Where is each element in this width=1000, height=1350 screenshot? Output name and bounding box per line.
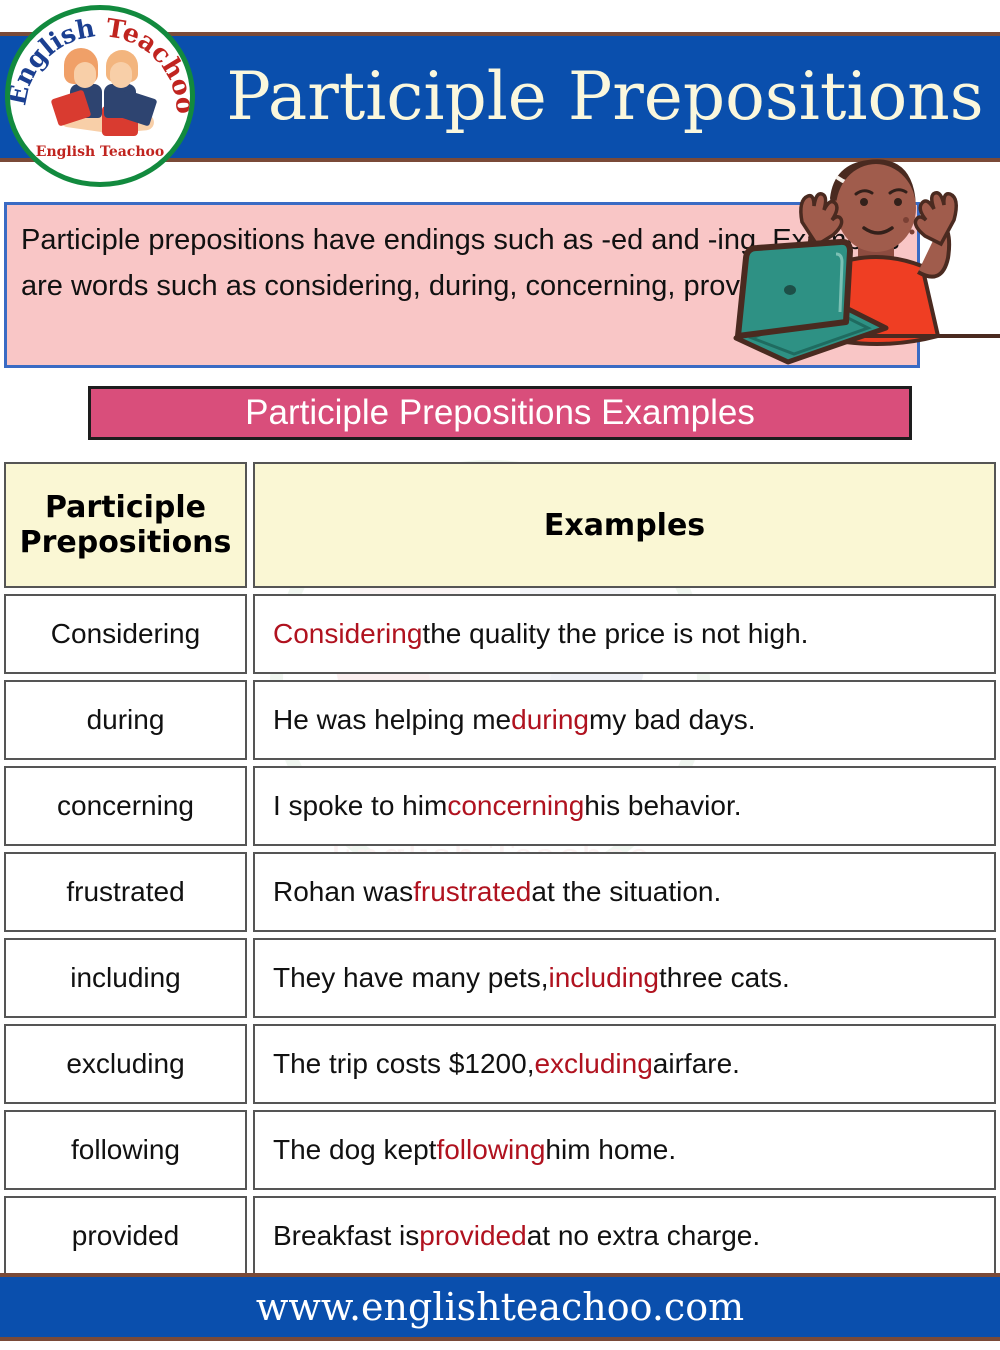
cell-example-sentence: Breakfast is provided at no extra charge… <box>253 1196 996 1276</box>
logo-caption: English Teachoo <box>10 144 190 160</box>
column-header-term: Participle Prepositions <box>4 462 247 588</box>
table-row: duringHe was helping me during my bad da… <box>4 680 996 760</box>
cell-participle-preposition: during <box>4 680 247 760</box>
cell-participle-preposition: Considering <box>4 594 247 674</box>
cell-participle-preposition: following <box>4 1110 247 1190</box>
example-text-after: him home. <box>545 1134 676 1166</box>
section-banner: Participle Prepositions Examples <box>88 386 912 440</box>
footer-url[interactable]: www.englishteachoo.com <box>256 1285 744 1329</box>
cell-example-sentence: The dog kept following him home. <box>253 1110 996 1190</box>
example-text-before: I spoke to him <box>273 790 447 822</box>
example-keyword: excluding <box>534 1048 652 1080</box>
cell-example-sentence: I spoke to him concerning his behavior. <box>253 766 996 846</box>
table-row: includingThey have many pets, including … <box>4 938 996 1018</box>
table-header-row: Participle Prepositions Examples <box>4 462 996 588</box>
cell-example-sentence: He was helping me during my bad days. <box>253 680 996 760</box>
example-keyword: during <box>511 704 589 736</box>
example-keyword: frustrated <box>413 876 531 908</box>
logo-readers-illustration <box>52 48 158 148</box>
site-logo: English Teachoo .Com English Teachoo <box>5 5 195 187</box>
example-text-before: They have many pets, <box>273 962 548 994</box>
table-row: concerningI spoke to him concerning his … <box>4 766 996 846</box>
example-keyword: Considering <box>273 618 422 650</box>
cell-participle-preposition: provided <box>4 1196 247 1276</box>
cell-participle-preposition: frustrated <box>4 852 247 932</box>
cell-participle-preposition: including <box>4 938 247 1018</box>
description-text: Participle prepositions have endings suc… <box>21 217 903 309</box>
table-body: ConsideringConsidering the quality the p… <box>4 594 996 1276</box>
example-text-before: He was helping me <box>273 704 511 736</box>
column-header-examples: Examples <box>253 462 996 588</box>
cell-participle-preposition: concerning <box>4 766 247 846</box>
example-keyword: provided <box>419 1220 526 1252</box>
example-text-before: Breakfast is <box>273 1220 419 1252</box>
example-text-after: three cats. <box>659 962 790 994</box>
description-box: Participle prepositions have endings suc… <box>4 202 920 368</box>
cell-example-sentence: Considering the quality the price is not… <box>253 594 996 674</box>
example-text-after: airfare. <box>653 1048 740 1080</box>
table-row: ConsideringConsidering the quality the p… <box>4 594 996 674</box>
table-row: frustratedRohan was frustrated at the si… <box>4 852 996 932</box>
example-keyword: concerning <box>447 790 584 822</box>
example-text-after: at no extra charge. <box>527 1220 760 1252</box>
example-keyword: including <box>548 962 659 994</box>
example-text-after: my bad days. <box>589 704 756 736</box>
example-keyword: following <box>436 1134 545 1166</box>
infographic-page: English Teachoo Participle Prepositions … <box>0 0 1000 1350</box>
cell-participle-preposition: excluding <box>4 1024 247 1104</box>
cell-example-sentence: The trip costs $1200, excluding airfare. <box>253 1024 996 1104</box>
example-text-before: The dog kept <box>273 1134 436 1166</box>
example-text-before: The trip costs $1200, <box>273 1048 534 1080</box>
cell-example-sentence: Rohan was frustrated at the situation. <box>253 852 996 932</box>
table-row: followingThe dog kept following him home… <box>4 1110 996 1190</box>
table-row: providedBreakfast is provided at no extr… <box>4 1196 996 1276</box>
examples-table: Participle Prepositions Examples Conside… <box>4 462 996 1282</box>
example-text-after: his behavior. <box>584 790 741 822</box>
page-title: Participle Prepositions <box>215 36 995 158</box>
example-text-after: the quality the price is not high. <box>422 618 808 650</box>
footer-banner: www.englishteachoo.com <box>0 1273 1000 1341</box>
table-row: excludingThe trip costs $1200, excluding… <box>4 1024 996 1104</box>
cell-example-sentence: They have many pets, including three cat… <box>253 938 996 1018</box>
example-text-after: at the situation. <box>531 876 721 908</box>
example-text-before: Rohan was <box>273 876 413 908</box>
